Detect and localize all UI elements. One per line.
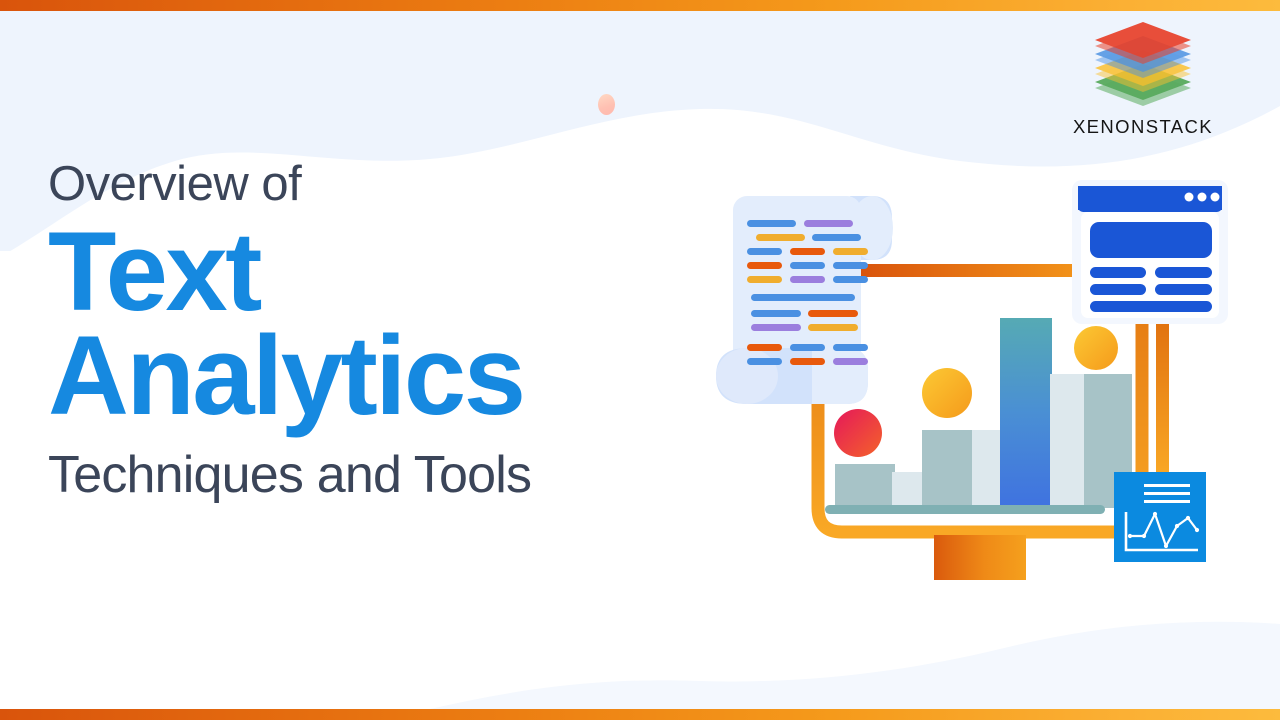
connector-vertical-right xyxy=(1156,316,1169,476)
connector-horizontal xyxy=(860,264,1102,277)
browser-row-1b xyxy=(1155,267,1212,278)
stacked-layers-icon xyxy=(1087,18,1199,110)
headline-block: Overview of Text Analytics Techniques an… xyxy=(48,160,531,501)
bottom-accent-bar xyxy=(0,709,1280,720)
bar-6 xyxy=(1050,374,1088,508)
text-analytics-illustration xyxy=(700,160,1260,580)
bar-4 xyxy=(972,430,1004,508)
screen-baseline xyxy=(825,505,1105,514)
illustration-svg xyxy=(700,160,1260,580)
dot-red xyxy=(834,409,882,457)
bar-2 xyxy=(892,472,927,508)
line-chart-card xyxy=(1114,472,1206,562)
card-text-line-2 xyxy=(1144,492,1190,495)
dot-yellow-right xyxy=(1074,326,1118,370)
headline-title: Text Analytics xyxy=(48,217,531,431)
dot-peach xyxy=(598,94,615,115)
browser-hero-block xyxy=(1090,222,1212,258)
window-dot-3 xyxy=(1211,193,1220,202)
headline-title-line2: Analytics xyxy=(48,321,531,431)
background-wave-bottom xyxy=(0,569,1280,709)
bar-3 xyxy=(922,430,974,508)
brand-logo: XENONSTACK xyxy=(1028,18,1258,138)
window-dot-1 xyxy=(1185,193,1194,202)
card-text-line-3 xyxy=(1144,500,1190,503)
top-accent-bar xyxy=(0,0,1280,11)
window-dot-2 xyxy=(1198,193,1207,202)
dot-yellow-left xyxy=(922,368,972,418)
scroll-document-icon xyxy=(716,196,893,404)
bar-1 xyxy=(835,464,895,508)
browser-row-2a xyxy=(1090,284,1146,295)
brand-wordmark: XENONSTACK xyxy=(1073,116,1213,138)
monitor-stand xyxy=(888,535,1072,580)
browser-row-1a xyxy=(1090,267,1146,278)
headline-subtitle: Techniques and Tools xyxy=(48,449,531,501)
poster-canvas: XENONSTACK Overview of Text Analytics Te… xyxy=(0,0,1280,720)
card-text-line-1 xyxy=(1144,484,1190,487)
browser-row-2b xyxy=(1155,284,1212,295)
browser-window-icon xyxy=(1072,180,1228,324)
browser-row-3 xyxy=(1090,301,1212,312)
bar-5 xyxy=(1000,318,1052,508)
headline-kicker: Overview of xyxy=(48,160,531,209)
